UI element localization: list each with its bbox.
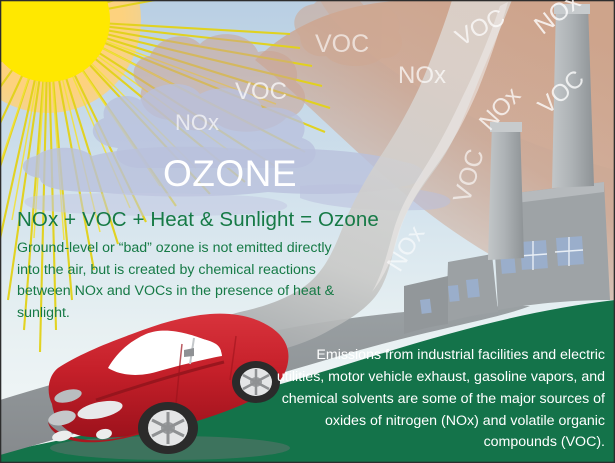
ozone-formula-headline: NOx + VOC + Heat & Sunlight = Ozone — [17, 208, 357, 232]
ozone-title: OZONE — [163, 153, 297, 195]
smokestack-left-cap — [490, 122, 522, 132]
ozone-formula-text-block: NOx + VOC + Heat & Sunlight = Ozone Grou… — [17, 208, 357, 324]
smokestack-right-cap — [554, 4, 590, 14]
smokestack-right — [552, 4, 594, 188]
emissions-text-block: Emissions from industrial facilities and… — [275, 345, 605, 454]
car-rear-wheel — [232, 361, 280, 403]
emissions-paragraph: Emissions from industrial facilities and… — [275, 345, 605, 454]
smokestack-left — [488, 122, 524, 260]
ozone-formation-infographic: OZONE VOCNOxVOCNOxVOCNOxVOCNOxVOCNOx NOx… — [0, 0, 615, 463]
car-front-wheel — [138, 402, 198, 454]
ozone-description-paragraph: Ground-level or “bad” ozone is not emitt… — [17, 238, 357, 324]
